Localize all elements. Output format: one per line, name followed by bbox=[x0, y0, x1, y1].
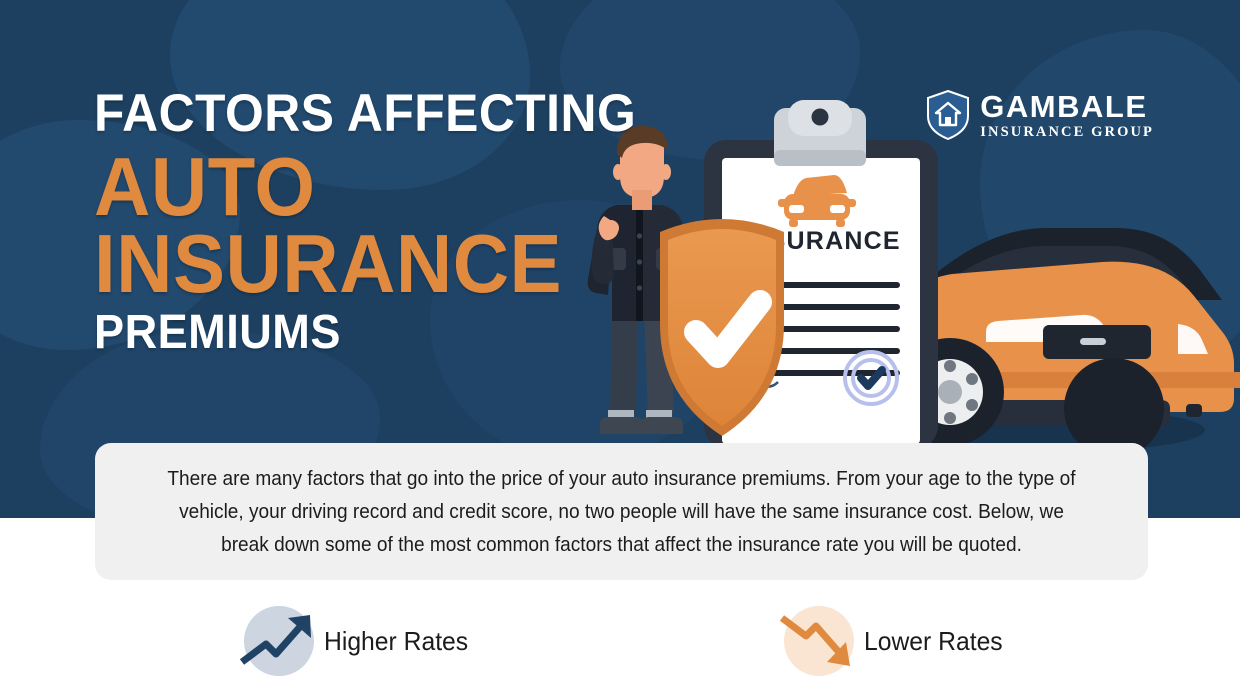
brand-logo[interactable]: GAMBALE INSURANCE GROUP bbox=[926, 90, 1154, 140]
title-line-factors: FACTORS AFFECTING bbox=[94, 88, 636, 140]
legend-item-higher-rates[interactable]: Higher Rates bbox=[238, 600, 476, 682]
orange-sedan-icon bbox=[896, 228, 1240, 458]
rate-legend: Higher Rates Lower Rates bbox=[0, 600, 1240, 692]
shield-house-icon bbox=[926, 90, 970, 140]
verified-check-seal-icon bbox=[845, 352, 897, 404]
infographic-header: INSURANCE bbox=[0, 0, 1240, 692]
legend-label-higher-rates: Higher Rates bbox=[324, 626, 468, 657]
intro-paragraph: There are many factors that go into the … bbox=[156, 462, 1087, 562]
logo-subtitle: INSURANCE GROUP bbox=[980, 125, 1154, 140]
legend-label-lower-rates: Lower Rates bbox=[864, 626, 1003, 657]
legend-item-lower-rates[interactable]: Lower Rates bbox=[778, 600, 1010, 682]
trend-up-arrow-icon bbox=[238, 600, 320, 682]
page-title: FACTORS AFFECTING AUTO INSURANCE PREMIUM… bbox=[94, 88, 671, 356]
title-line-insurance: INSURANCE bbox=[94, 223, 636, 304]
trend-down-arrow-icon bbox=[778, 600, 860, 682]
title-line-auto: AUTO bbox=[94, 146, 636, 227]
intro-card: There are many factors that go into the … bbox=[95, 443, 1148, 580]
logo-name: GAMBALE bbox=[980, 91, 1154, 122]
title-line-premiums: PREMIUMS bbox=[94, 309, 636, 356]
